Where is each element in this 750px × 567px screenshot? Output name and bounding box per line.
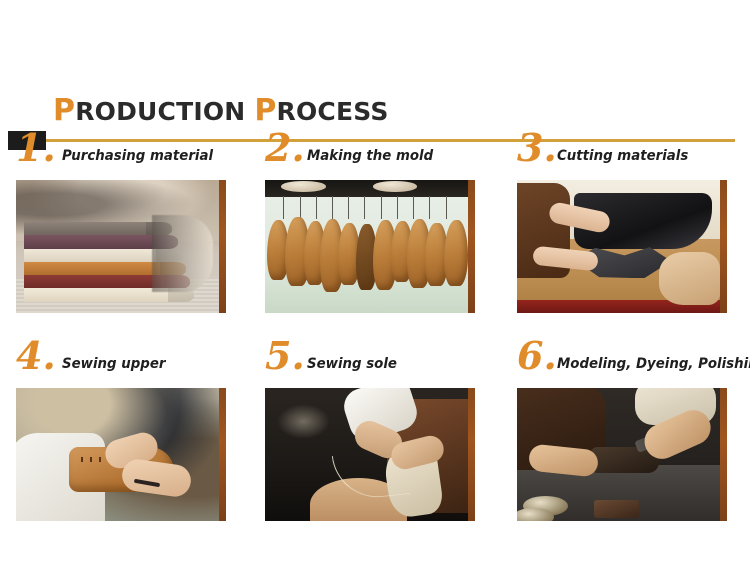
step-heading-3: 3. Cutting materials xyxy=(517,132,727,180)
step-number-3: 3. xyxy=(517,126,557,170)
step-heading-4: 4. Sewing upper xyxy=(16,340,226,388)
step-heading-5: 5. Sewing sole xyxy=(265,340,475,388)
step-number-4: 4. xyxy=(16,334,56,378)
step-photo-2 xyxy=(265,180,475,313)
step-heading-1: 1. Purchasing material xyxy=(16,132,226,180)
step-card-6: 6. Modeling, Dyeing, Polishing xyxy=(517,340,727,521)
step-number-1: 1. xyxy=(16,126,56,170)
step-card-3: 3. Cutting materials xyxy=(517,132,727,313)
step-photo-5 xyxy=(265,388,475,521)
step-photo-6 xyxy=(517,388,727,521)
photo-edge-1 xyxy=(219,180,226,313)
step-label-3: Cutting materials xyxy=(557,148,688,164)
production-process-infographic: PRODUCTION PROCESS 1. Purchasing materia… xyxy=(0,0,750,567)
photo-edge-3 xyxy=(720,180,727,313)
photo-edge-5 xyxy=(468,388,475,521)
step-heading-6: 6. Modeling, Dyeing, Polishing xyxy=(517,340,727,388)
step-label-5: Sewing sole xyxy=(307,356,397,372)
step-card-2: 2. Making the mold xyxy=(265,132,475,313)
photo-edge-6 xyxy=(720,388,727,521)
step-card-5: 5. Sewing sole xyxy=(265,340,475,521)
step-number-6: 6. xyxy=(517,334,557,378)
step-card-1: 1. Purchasing material xyxy=(16,132,226,313)
step-label-6: Modeling, Dyeing, Polishing xyxy=(557,356,750,372)
step-label-4: Sewing upper xyxy=(62,356,165,372)
step-heading-2: 2. Making the mold xyxy=(265,132,475,180)
step-label-1: Purchasing material xyxy=(62,148,213,164)
step-label-2: Making the mold xyxy=(307,148,433,164)
step-photo-3 xyxy=(517,180,727,313)
photo-edge-4 xyxy=(219,388,226,521)
steps-grid: 1. Purchasing material xyxy=(0,118,750,548)
step-number-2: 2. xyxy=(265,126,305,170)
step-photo-4 xyxy=(16,388,226,521)
step-number-5: 5. xyxy=(265,334,305,378)
photo-edge-2 xyxy=(468,180,475,313)
step-card-4: 4. Sewing upper xyxy=(16,340,226,521)
header: PRODUCTION PROCESS xyxy=(0,44,750,110)
step-photo-1 xyxy=(16,180,226,313)
